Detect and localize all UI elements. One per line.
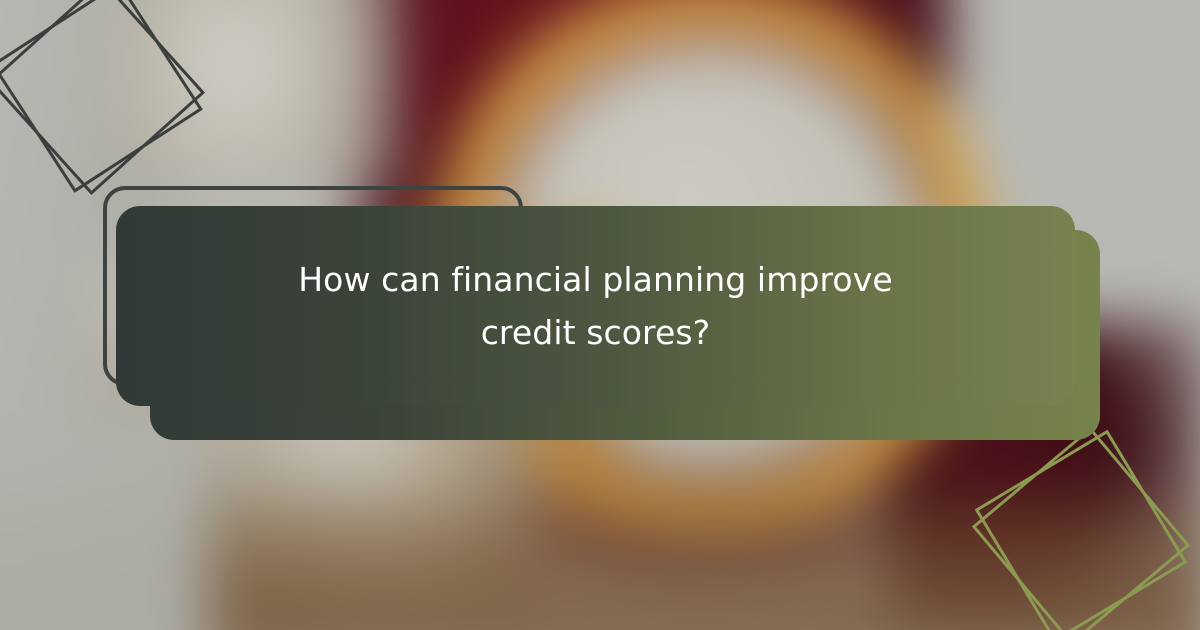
question-card: How can financial planning improve credi… <box>116 206 1075 406</box>
card-stack: How can financial planning improve credi… <box>0 0 1200 630</box>
question-text: How can financial planning improve credi… <box>222 253 970 360</box>
question-card-graphic: How can financial planning improve credi… <box>0 0 1200 630</box>
